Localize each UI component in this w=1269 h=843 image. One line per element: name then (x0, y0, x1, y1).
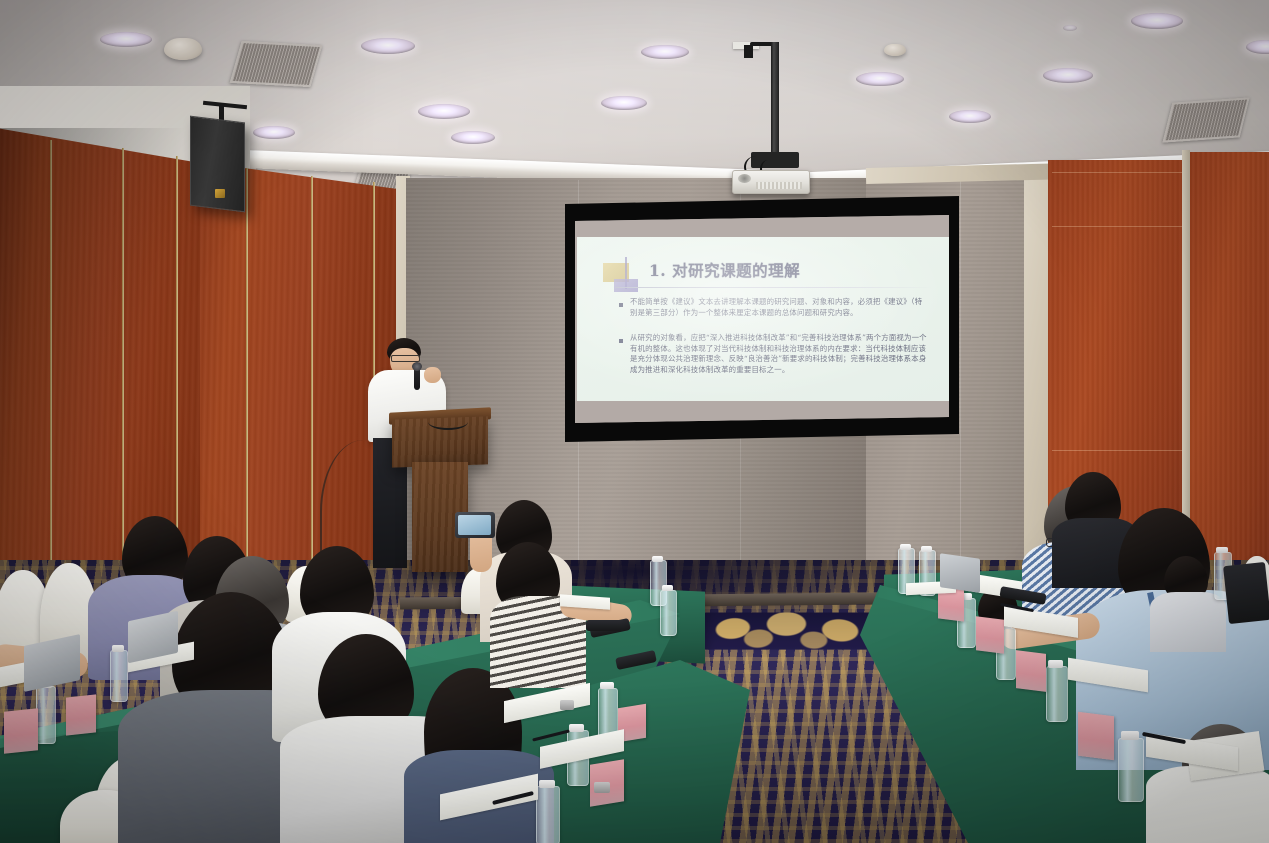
conference-microphone-base (594, 782, 610, 793)
water-bottle (1046, 666, 1068, 722)
bottle-cap (652, 556, 663, 562)
slide-bullet-marker (619, 339, 623, 343)
water-bottle (110, 650, 128, 702)
ceiling-downlight (641, 45, 689, 59)
slide-motif-purple-square (614, 279, 638, 292)
door-panel-line (1052, 172, 1186, 173)
slide-title: 1. 对研究课题的理解 (649, 259, 800, 281)
water-bottle (660, 590, 677, 636)
conference-microphone-base (560, 700, 574, 710)
tablet-device (1223, 562, 1269, 624)
presentation-slide: 1. 对研究课题的理解 不能简单按《建议》文本去讲理解本课题的研究问题、对象和内… (577, 237, 949, 401)
glasses-case (586, 620, 622, 631)
bottle-cap (662, 585, 673, 591)
ceiling-downlight (601, 96, 647, 110)
name-tent-card (4, 708, 38, 754)
name-tent-card (66, 694, 96, 735)
ceiling-downlight (451, 131, 495, 144)
projector-drop-pole (771, 42, 779, 160)
ceiling-downlight (361, 38, 415, 54)
name-tent-card (1016, 650, 1046, 692)
water-bottle (36, 686, 56, 744)
fabric-panel-seam (960, 180, 961, 616)
door-panel-line (1052, 226, 1186, 227)
slide-bullet-1: 不能简单按《建议》文本去讲理解本课题的研究问题、对象和内容，必须把《建议》（特别… (630, 297, 924, 318)
bottle-cap (112, 645, 124, 652)
ceiling-downlight (418, 104, 470, 119)
projector-vent-slots (756, 182, 802, 189)
ceiling-downlight (1131, 13, 1183, 29)
name-tent-card (1078, 712, 1114, 760)
bottle-cap (900, 544, 911, 550)
name-tent-card (976, 616, 1004, 653)
bottle-cap (1216, 547, 1228, 553)
ceiling-downlight (949, 110, 991, 123)
ceiling-downlight (1063, 25, 1077, 31)
bottle-cap (569, 724, 584, 732)
bottle-cap (921, 546, 932, 552)
wall-gold-strip (246, 168, 248, 598)
projector-swivel-joint (744, 45, 753, 58)
hvac-vent (1162, 97, 1249, 142)
hvac-vent (230, 41, 323, 87)
wall-gold-strip (311, 176, 313, 596)
slide-bullet-2: 从研究的对象看，应把“深入推进科技体制改革”和“完善科技治理体系”两个方面视为一… (630, 333, 930, 375)
water-bottle (1118, 738, 1144, 802)
presenter-glasses (391, 355, 420, 362)
podium-cable (428, 414, 468, 430)
tablet-screen (940, 553, 980, 593)
ceiling-downlight (253, 126, 295, 139)
ceiling-downlight (100, 32, 152, 47)
projection-screen-surface: 1. 对研究课题的理解 不能简单按《建议》文本去讲理解本课题的研究问题、对象和内… (575, 215, 949, 423)
bottle-cap (1121, 731, 1139, 740)
slide-title-underline (615, 287, 933, 288)
attendee-body (1150, 592, 1226, 652)
speaker-brand-badge (215, 189, 225, 198)
smoke-detector (884, 44, 906, 56)
smoke-detector (164, 38, 202, 60)
door-panel-line (1052, 450, 1186, 451)
slide-bullet-marker (619, 303, 623, 307)
water-bottle (536, 786, 560, 843)
ceiling-downlight (1043, 68, 1093, 83)
bottle-cap (600, 682, 614, 689)
ceiling-downlight (856, 72, 904, 86)
microphone-head (412, 362, 422, 371)
projector-lens (738, 174, 751, 183)
conference-room-photo: 1. 对研究课题的理解 不能简单按《建议》文本去讲理解本课题的研究问题、对象和内… (0, 0, 1269, 843)
bottle-cap (539, 780, 555, 788)
camera-screen (458, 515, 491, 535)
bottle-cap (1048, 660, 1063, 668)
presenter-hand (424, 367, 441, 383)
